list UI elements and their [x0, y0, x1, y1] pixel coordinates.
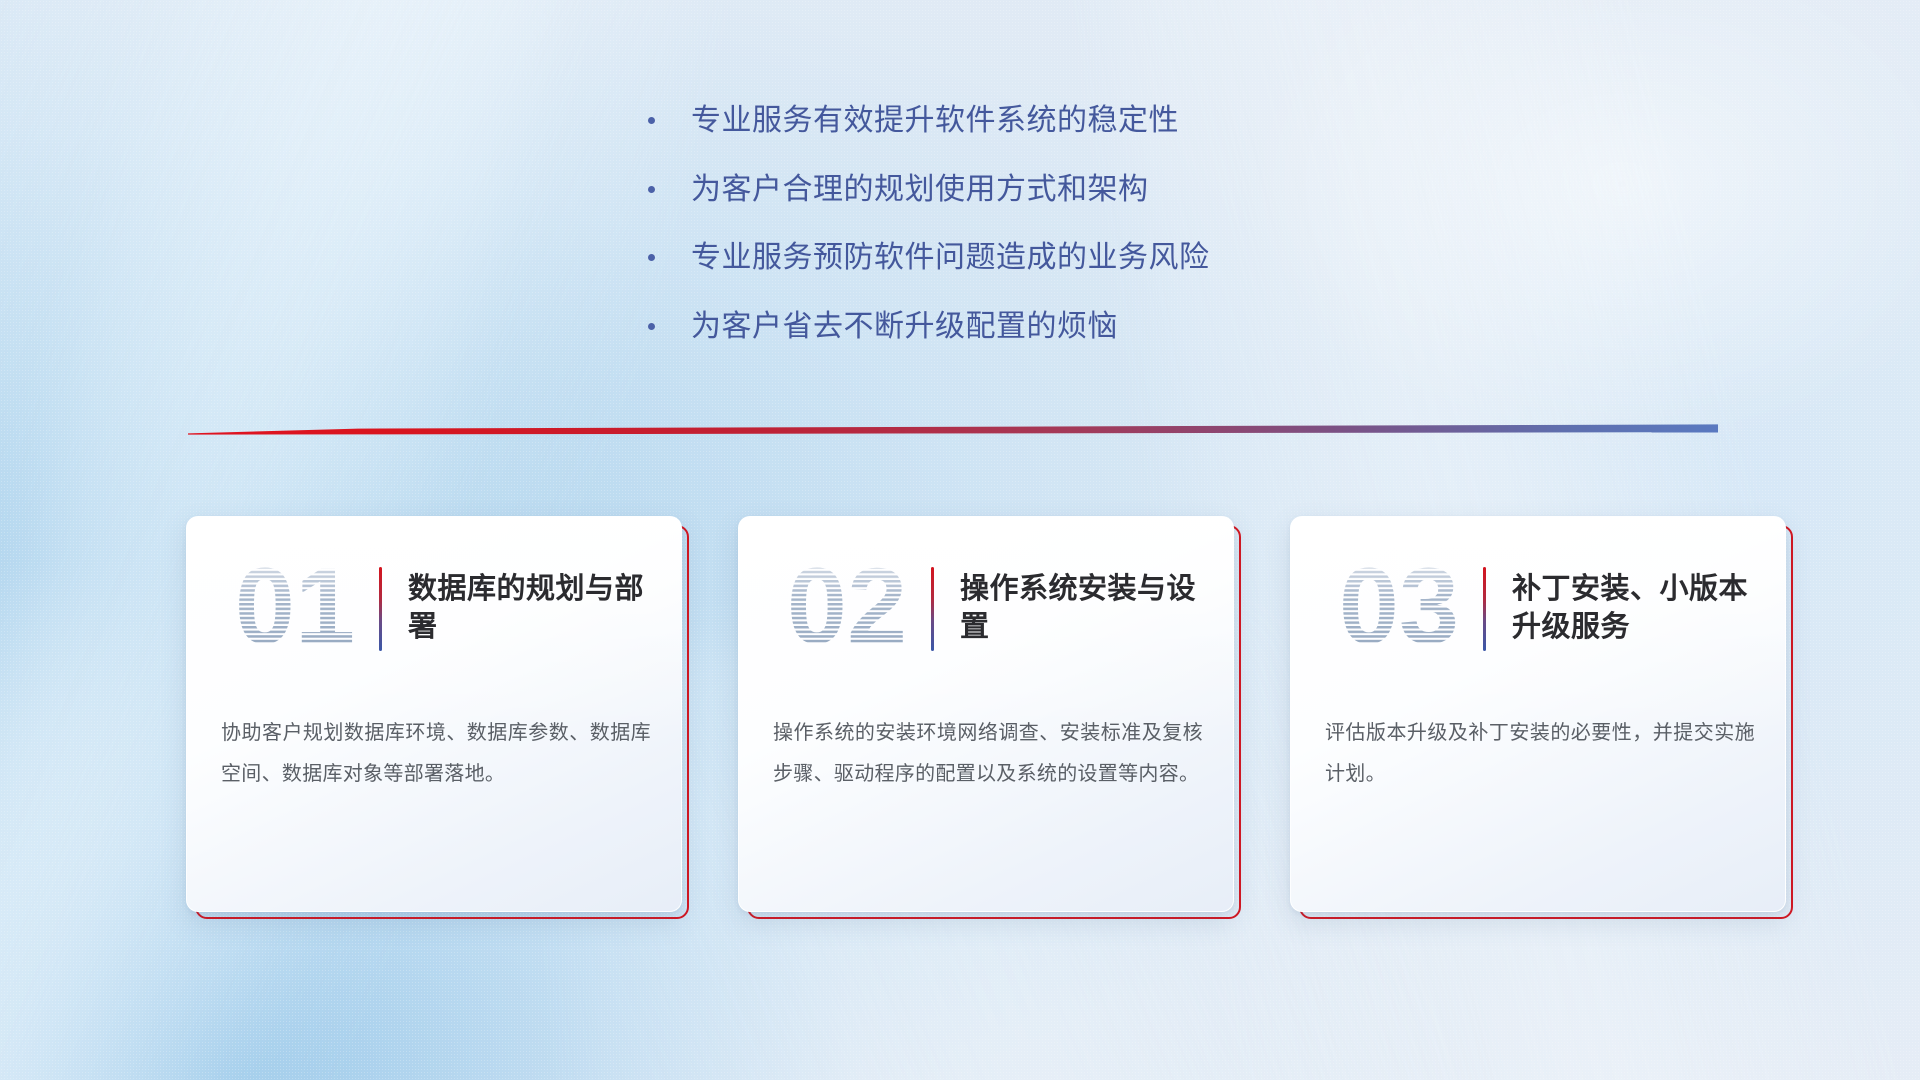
- bullet-label: 为客户合理的规划使用方式和架构: [691, 172, 1149, 209]
- service-card[interactable]: 01 数据库的规划与部署 协助客户规划数据库环境、数据库参数、数据库空间、数据库…: [186, 516, 682, 912]
- bullet-label: 专业服务预防软件问题造成的业务风险: [691, 240, 1210, 277]
- card-header: 03 补丁安装、小版本升级服务: [1291, 539, 1785, 679]
- list-item: 为客户省去不断升级配置的烦恼: [648, 309, 1408, 346]
- list-item: 为客户合理的规划使用方式和架构: [648, 172, 1408, 209]
- card-description: 操作系统的安装环境网络调查、安装标准及复核步骤、驱动程序的配置以及系统的设置等内…: [773, 713, 1203, 795]
- card-number-striped: 02: [763, 557, 931, 661]
- bullet-dot-icon: [648, 117, 655, 124]
- card-number-striped: 01: [211, 557, 379, 661]
- card-description: 评估版本升级及补丁安装的必要性，并提交实施计划。: [1325, 713, 1755, 795]
- card-accent-bar: [931, 567, 934, 651]
- list-item: 专业服务有效提升软件系统的稳定性: [648, 103, 1408, 140]
- benefits-bullet-list: 专业服务有效提升软件系统的稳定性 为客户合理的规划使用方式和架构 专业服务预防软…: [648, 103, 1408, 377]
- service-cards-row: 01 数据库的规划与部署 协助客户规划数据库环境、数据库参数、数据库空间、数据库…: [186, 516, 1796, 912]
- bullet-label: 专业服务有效提升软件系统的稳定性: [691, 103, 1179, 140]
- card-title: 操作系统安装与设置: [960, 571, 1233, 646]
- card-surface: 03 补丁安装、小版本升级服务 评估版本升级及补丁安装的必要性，并提交实施计划。: [1290, 516, 1786, 912]
- service-card[interactable]: 02 操作系统安装与设置 操作系统的安装环境网络调查、安装标准及复核步骤、驱动程…: [738, 516, 1234, 912]
- card-title: 补丁安装、小版本升级服务: [1512, 571, 1785, 646]
- service-card[interactable]: 03 补丁安装、小版本升级服务 评估版本升级及补丁安装的必要性，并提交实施计划。: [1290, 516, 1786, 912]
- card-title: 数据库的规划与部署: [408, 571, 681, 646]
- bullet-dot-icon: [648, 186, 655, 193]
- card-accent-bar: [1483, 567, 1486, 651]
- card-header: 02 操作系统安装与设置: [739, 539, 1233, 679]
- bullet-label: 为客户省去不断升级配置的烦恼: [691, 309, 1118, 346]
- bullet-dot-icon: [648, 323, 655, 330]
- svg-text:03: 03: [1339, 557, 1459, 661]
- card-surface: 02 操作系统安装与设置 操作系统的安装环境网络调查、安装标准及复核步骤、驱动程…: [738, 516, 1234, 912]
- card-surface: 01 数据库的规划与部署 协助客户规划数据库环境、数据库参数、数据库空间、数据库…: [186, 516, 682, 912]
- bullet-dot-icon: [648, 254, 655, 261]
- card-description: 协助客户规划数据库环境、数据库参数、数据库空间、数据库对象等部署落地。: [221, 713, 651, 795]
- list-item: 专业服务预防软件问题造成的业务风险: [648, 240, 1408, 277]
- svg-text:01: 01: [235, 557, 355, 661]
- svg-text:02: 02: [787, 557, 907, 661]
- card-number-striped: 03: [1315, 557, 1483, 661]
- card-accent-bar: [379, 567, 382, 651]
- card-header: 01 数据库的规划与部署: [187, 539, 681, 679]
- section-divider: [188, 424, 1718, 442]
